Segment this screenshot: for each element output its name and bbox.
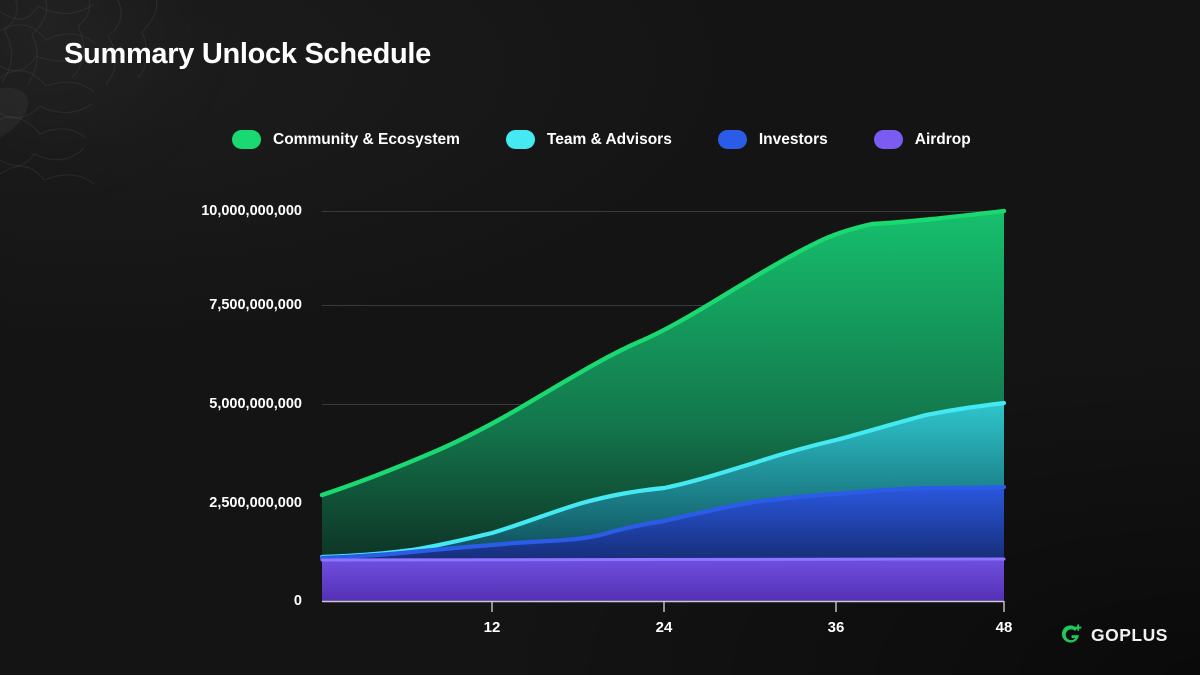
x-tick-label-48: 48 xyxy=(984,619,1024,636)
x-tick-label-36: 36 xyxy=(816,619,856,636)
chart-series-group xyxy=(322,211,1004,601)
goplus-logo-text: GOPLUS xyxy=(1091,625,1168,646)
line-airdrop xyxy=(322,559,1004,560)
chart-plot-svg xyxy=(0,0,1200,675)
y-tick-label-2-5b: 2,500,000,000 xyxy=(209,495,302,511)
slide-canvas: Summary Unlock Schedule Community & Ecos… xyxy=(0,0,1200,675)
y-tick-label-10b: 10,000,000,000 xyxy=(201,203,302,219)
y-tick-label-0: 0 xyxy=(294,593,302,609)
y-tick-label-7-5b: 7,500,000,000 xyxy=(209,297,302,313)
x-tick-label-24: 24 xyxy=(644,619,684,636)
goplus-logo: GOPLUS xyxy=(1058,622,1168,648)
area-airdrop xyxy=(322,559,1004,601)
stacked-area-chart: 10,000,000,000 7,500,000,000 5,000,000,0… xyxy=(0,0,1200,675)
goplus-g-mark-icon xyxy=(1058,622,1084,648)
x-tick-label-12: 12 xyxy=(472,619,512,636)
chart-axis xyxy=(322,601,1004,612)
y-tick-label-5b: 5,000,000,000 xyxy=(209,396,302,412)
